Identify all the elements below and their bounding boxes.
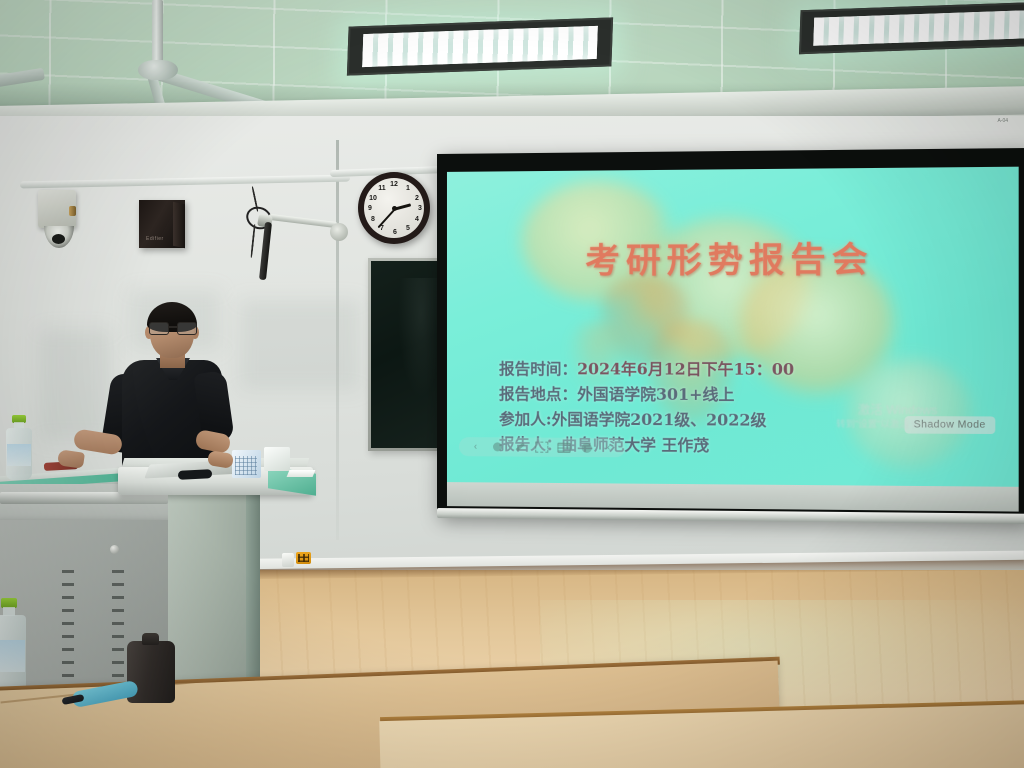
wall-clock: 12 1 2 3 4 5 6 7 8 9 10 11 [358, 172, 430, 244]
clock-numeral: 10 [368, 195, 378, 202]
wall-smudge [40, 330, 110, 440]
cabinet-vent-slots [62, 570, 74, 678]
slide-line-time: 报告时间：2024年6月12日下午15：00 [499, 356, 1000, 382]
fluorescent-lamp [813, 10, 1024, 46]
ceiling-light-fixture-right [799, 2, 1024, 54]
slide-line-attendees-label: 参加人: [499, 409, 552, 428]
record-glyph [581, 442, 591, 452]
ceiling-fan-rod [152, 0, 163, 66]
slide-line-time-label: 报告时间： [499, 359, 577, 378]
lectern-column [168, 492, 256, 690]
laser-pointer-icon[interactable] [491, 440, 504, 453]
glasses-lens [149, 322, 169, 335]
prev-slide-glyph: ‹ [474, 441, 477, 452]
pen-icon[interactable] [513, 440, 526, 453]
paper-stack [287, 470, 316, 477]
clock-numeral: 3 [415, 205, 425, 212]
pen-glyph [515, 443, 524, 452]
thermos-cap [142, 633, 159, 645]
wall-tag-label: A-04 [997, 118, 1008, 124]
prev-slide-icon[interactable]: ‹ [469, 440, 482, 453]
slide-title: 考研形势报告会 [447, 231, 1019, 283]
ceiling-light-fixture-left [347, 17, 613, 75]
wall-corner-edge [336, 140, 339, 540]
wall-smudge [240, 300, 360, 390]
white-cup [264, 447, 290, 471]
slide-line-time-value: 2024年6月12日下午15：00 [577, 359, 794, 379]
watermark-line-1: 激活 Windows [836, 401, 959, 418]
lectern-remote[interactable] [178, 469, 212, 480]
expand-icon[interactable] [535, 441, 548, 454]
slideshow-toolbar[interactable]: ‹ ‹ [459, 437, 625, 457]
wall-socket-holes [298, 554, 309, 562]
wall-mount-arm-base [330, 223, 348, 241]
cabinet-lock-icon[interactable] [110, 545, 119, 554]
clock-hub [392, 206, 397, 211]
next-slide-icon[interactable]: ‹ [602, 441, 615, 454]
ceiling-fan-motor [138, 60, 178, 80]
glasses-bridge [168, 326, 177, 328]
screen-unused-area [447, 482, 1019, 512]
slide-line-attendees-value: 外国语学院2021级、2022级 [552, 410, 767, 430]
speaker-brand-label: Edifier [146, 236, 164, 242]
cctv-lens [52, 234, 65, 244]
projection-screen[interactable]: 考研形势报告会 报告时间：2024年6月12日下午15：00 报告地点：外国语学… [437, 148, 1024, 522]
glasses-icon [149, 322, 196, 334]
fluorescent-lamp [362, 26, 598, 67]
clock-numeral: 6 [390, 229, 400, 236]
clock-numeral: 12 [389, 181, 399, 188]
laser-pointer-glyph [493, 442, 502, 451]
wall-socket-white [282, 553, 294, 567]
bottle-label [0, 640, 25, 672]
expand-glyph [535, 442, 548, 453]
tissue-box-pattern [235, 456, 257, 475]
clock-numeral: 2 [412, 195, 422, 202]
projected-slide[interactable]: 考研形势报告会 报告时间：2024年6月12日下午15：00 报告地点：外国语学… [447, 167, 1019, 489]
wall-speaker-side [173, 202, 185, 249]
record-icon[interactable] [580, 441, 593, 454]
classroom-photo: A-04 Edifier 12 1 2 3 4 5 6 7 8 9 10 11 [0, 0, 1024, 768]
watermark-line-2: 转到"设置"以激活 Windows。 [836, 418, 959, 431]
presenter-view-icon[interactable] [557, 441, 570, 454]
clock-side-knob [69, 206, 76, 216]
clock-numeral: 9 [365, 205, 375, 212]
clock-numeral: 4 [412, 216, 422, 223]
slide-line-place-label: 报告地点： [499, 384, 577, 403]
cabinet-vent-slots [112, 570, 124, 678]
clock-numeral: 11 [377, 185, 387, 192]
next-slide-glyph: ‹ [607, 442, 610, 453]
windows-activation-watermark: 激活 Windows 转到"设置"以激活 Windows。 [836, 401, 959, 431]
lectern-column-edge [246, 492, 260, 690]
bottle-label [7, 444, 31, 466]
clock-numeral: 5 [403, 225, 413, 232]
presenter-view-glyph [557, 442, 570, 452]
clock-numeral: 1 [403, 185, 413, 192]
slide-line-place-value: 外国语学院301+线上 [577, 384, 734, 404]
glasses-lens [177, 322, 197, 335]
clock-numeral: 8 [368, 216, 378, 223]
